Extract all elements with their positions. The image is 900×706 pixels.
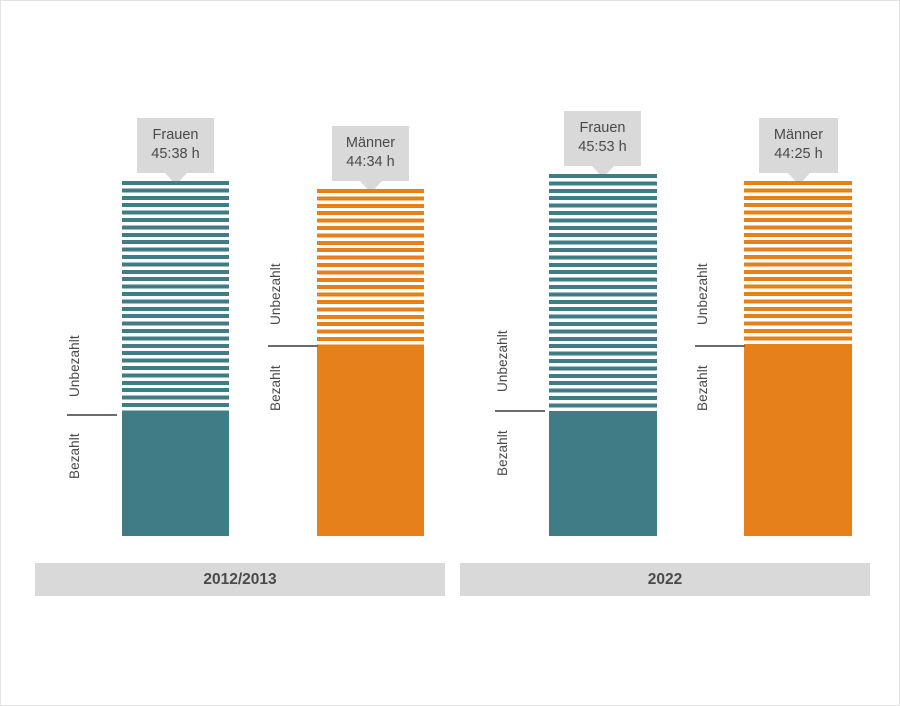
callout-name: Frauen [149,126,202,145]
bar-segment-unbezahlt [122,181,229,414]
bar-frauen-2022[interactable] [549,174,657,536]
axis-label-unbezahlt-maenner-2012: Unbezahlt [268,249,284,339]
bar-segment-bezahlt [122,414,229,536]
axis-label-bezahlt-maenner-2022: Bezahlt [695,353,711,423]
axis-label-bezahlt-maenner-2012: Bezahlt [268,353,284,423]
bar-maenner-2022[interactable] [744,181,852,536]
bar-segment-unbezahlt [549,174,657,411]
callout-value: 45:38 h [149,145,202,164]
callout-maenner-2022: Männer 44:25 h [759,118,838,173]
bar-maenner-2012[interactable] [317,189,424,536]
callout-value: 44:34 h [344,153,397,172]
bar-segment-unbezahlt [317,189,424,345]
axis-label-bezahlt-frauen-2022: Bezahlt [495,418,511,488]
callout-value: 45:53 h [576,138,629,157]
year-band-2022: 2022 [460,563,870,596]
year-band-label: 2022 [648,571,682,589]
callout-maenner-2012: Männer 44:34 h [332,126,409,181]
year-band-2012-2013: 2012/2013 [35,563,445,596]
year-band-label: 2012/2013 [203,571,276,589]
bar-segment-bezahlt [744,345,852,536]
callout-frauen-2012: Frauen 45:38 h [137,118,214,173]
callout-name: Männer [771,126,826,145]
callout-value: 44:25 h [771,145,826,164]
axis-label-bezahlt-frauen-2012: Bezahlt [67,421,83,491]
axis-label-unbezahlt-maenner-2022: Unbezahlt [695,249,711,339]
bar-frauen-2012[interactable] [122,181,229,536]
axis-label-unbezahlt-frauen-2022: Unbezahlt [495,316,511,406]
callout-name: Frauen [576,119,629,138]
axis-label-unbezahlt-frauen-2012: Unbezahlt [67,321,83,411]
bar-segment-bezahlt [317,345,424,536]
callout-frauen-2022: Frauen 45:53 h [564,111,641,166]
bar-segment-unbezahlt [744,181,852,345]
axis-divider-maenner-2012 [268,345,318,347]
chart-canvas: Frauen 45:38 h Unbezahlt Bezahlt Männer … [0,0,900,706]
axis-divider-frauen-2012 [67,414,117,416]
callout-name: Männer [344,134,397,153]
bar-segment-bezahlt [549,411,657,536]
axis-divider-maenner-2022 [695,345,745,347]
axis-divider-frauen-2022 [495,410,545,412]
